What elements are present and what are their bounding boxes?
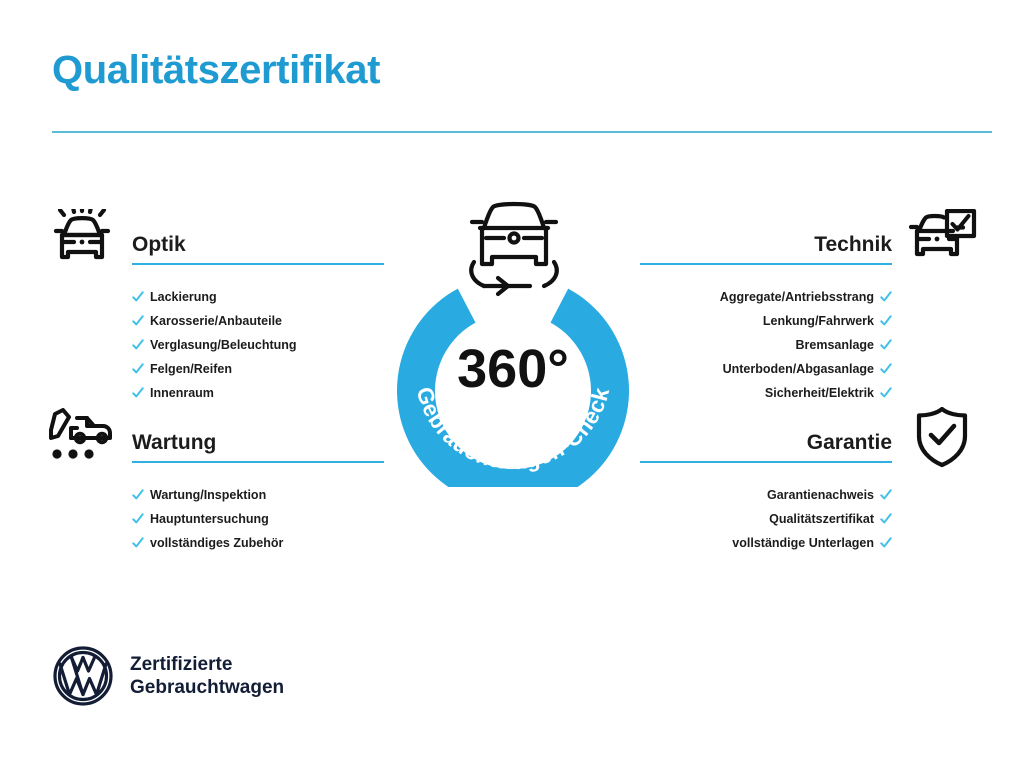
section-header-garantie: Garantie [640,432,892,463]
list-item: Qualitätszertifikat [640,507,892,531]
check-icon [132,291,144,303]
check-icon [132,513,144,525]
list-item-label: Wartung/Inspektion [150,489,266,502]
list-item-label: Hauptuntersuchung [150,513,269,526]
check-icon [880,513,892,525]
list-item-label: Innenraum [150,387,214,400]
list-item: Felgen/Reifen [132,357,384,381]
checklist-optik: Lackierung Karosserie/Anbauteile Verglas… [132,285,384,405]
footer-brand-text: Zertifizierte Gebrauchtwagen [130,653,284,699]
check-icon [880,291,892,303]
section-underline [132,461,384,463]
list-item-label: Garantienachweis [767,489,874,502]
section-technik: Technik Aggregate/Antriebsstrang Lenkung… [628,206,980,391]
list-item-label: vollständige Unterlagen [732,537,874,550]
list-item-label: Lackierung [150,291,217,304]
page-title: Qualitätszertifikat [52,48,380,92]
check-icon [880,363,892,375]
check-icon [880,537,892,549]
check-icon [880,387,892,399]
certificate-page: Qualitätszertifikat [0,0,1024,768]
list-item: Aggregate/Antriebsstrang [640,285,892,309]
list-item: Bremsanlage [640,333,892,357]
list-item: Lenkung/Fahrwerk [640,309,892,333]
car-front-checkbox-icon [904,206,980,272]
check-icon [132,315,144,327]
checklist-garantie: Garantienachweis Qualitätszertifikat vol… [640,483,892,555]
footer-line-1: Zertifizierte [130,653,284,676]
list-item: vollständige Unterlagen [640,531,892,555]
section-title: Garantie [640,432,892,454]
title-divider [52,131,992,133]
list-item: Karosserie/Anbauteile [132,309,384,333]
check-icon [132,363,144,375]
check-icon [132,537,144,549]
section-optik: Optik Lackierung Karosserie/Anbauteile V… [44,206,396,391]
list-item-label: Verglasung/Beleuchtung [150,339,297,352]
list-item-label: Qualitätszertifikat [769,513,874,526]
section-underline [640,461,892,463]
list-item-label: Unterboden/Abgasanlage [723,363,874,376]
section-title: Wartung [132,432,384,454]
list-item-label: Aggregate/Antriebsstrang [720,291,874,304]
section-header-optik: Optik [132,234,384,265]
list-item: Unterboden/Abgasanlage [640,357,892,381]
section-header-wartung: Wartung [132,432,384,463]
footer-brand: Zertifizierte Gebrauchtwagen [52,645,284,707]
list-item: Lackierung [132,285,384,309]
section-header-technik: Technik [640,234,892,265]
car-rotation-icon [458,194,570,300]
badge-center-label: 360° [457,339,569,399]
section-underline [132,263,384,265]
list-item-label: vollständiges Zubehör [150,537,283,550]
check-icon [132,489,144,501]
check-icon [880,489,892,501]
list-item: Sicherheit/Elektrik [640,381,892,405]
list-item-label: Felgen/Reifen [150,363,232,376]
shield-check-icon [904,404,980,470]
list-item: Hauptuntersuchung [132,507,384,531]
section-title: Optik [132,234,384,256]
volkswagen-logo [52,645,114,707]
check-icon [132,387,144,399]
footer-line-2: Gebrauchtwagen [130,676,284,699]
check-icon [880,315,892,327]
pen-car-service-icon [44,404,120,470]
list-item: vollständiges Zubehör [132,531,384,555]
section-underline [640,263,892,265]
check-icon [132,339,144,351]
section-title: Technik [640,234,892,256]
list-item-label: Bremsanlage [795,339,874,352]
list-item-label: Karosserie/Anbauteile [150,315,282,328]
car-front-lights-icon [44,206,120,272]
section-garantie: Garantie Garantienachweis Qualitätszerti… [628,404,980,589]
list-item: Garantienachweis [640,483,892,507]
list-item: Verglasung/Beleuchtung [132,333,384,357]
check-icon [880,339,892,351]
checklist-wartung: Wartung/Inspektion Hauptuntersuchung vol… [132,483,384,555]
list-item-label: Sicherheit/Elektrik [765,387,874,400]
list-item: Wartung/Inspektion [132,483,384,507]
list-item: Innenraum [132,381,384,405]
section-wartung: Wartung Wartung/Inspektion Hauptuntersuc… [44,404,396,589]
list-item-label: Lenkung/Fahrwerk [763,315,874,328]
checklist-technik: Aggregate/Antriebsstrang Lenkung/Fahrwer… [640,285,892,405]
